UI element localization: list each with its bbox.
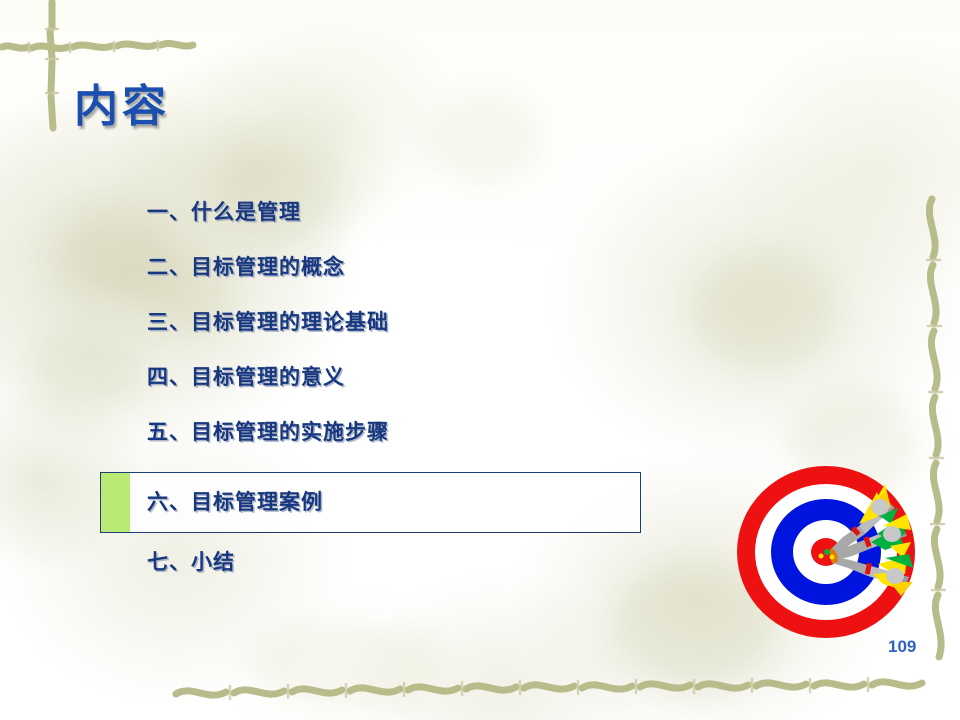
background-blob	[430, 95, 540, 185]
agenda-item-1[interactable]: 一、什么是管理	[147, 196, 301, 226]
background-blob	[215, 140, 345, 245]
slide-canvas: 内容 一、什么是管理 二、目标管理的概念 三、目标管理的理论基础 四、目标管理的…	[0, 0, 960, 720]
page-number: 109	[888, 637, 916, 657]
agenda-item-3[interactable]: 三、目标管理的理论基础	[147, 306, 389, 336]
highlight-accent-bar	[101, 473, 130, 532]
background-blob	[250, 620, 440, 710]
slide-title: 内容	[74, 70, 170, 134]
background-blob	[690, 250, 840, 370]
agenda-item-6[interactable]: 六、目标管理案例	[147, 486, 323, 516]
dartboard-image	[735, 464, 917, 644]
agenda-item-2[interactable]: 二、目标管理的概念	[147, 251, 345, 281]
agenda-item-7[interactable]: 七、小结	[147, 546, 235, 576]
agenda-item-4[interactable]: 四、目标管理的意义	[147, 361, 345, 391]
bamboo-bottom-border-icon	[170, 668, 960, 718]
background-blob	[30, 330, 140, 420]
agenda-item-5[interactable]: 五、目标管理的实施步骤	[147, 416, 389, 446]
